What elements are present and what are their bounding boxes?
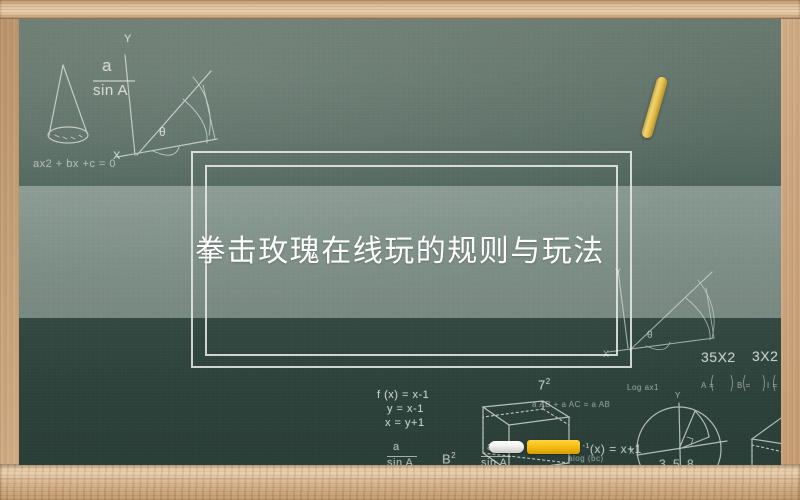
chalk-fraction-denominator-bc2: sin A: [481, 457, 507, 465]
chalk-label-angle-midright: θ: [647, 330, 653, 341]
chalk-label-3x2: 3X2: [752, 348, 778, 364]
bottom-right-cube-drawing: [744, 397, 781, 465]
yellow-eraser-icon: [527, 440, 580, 454]
chalk-equation-quadratic: ax2 + bx +c = 0: [33, 158, 116, 170]
chalk-label-35x2: 35X2: [701, 349, 736, 365]
white-chalk-icon: [489, 441, 524, 453]
chalk-fraction-denominator-sina: sin A: [93, 82, 128, 99]
chalk-equation-fx: f (x) = x-1: [377, 389, 429, 401]
title-overlay-band: 拳击玫瑰在线玩的规则与玩法: [19, 186, 781, 318]
chalk-matrix-brackets: [691, 371, 781, 395]
chalk-label-angle-topleft: θ: [159, 125, 166, 139]
chalk-equation-x: x = y+1: [385, 417, 425, 429]
chalk-sum-row-1: 3 5 8: [659, 457, 696, 465]
chalk-fraction-numerator-a: a: [102, 56, 112, 76]
blackboard-banner-image: Y X θ a sin A ax2 + bx +c = 0 Y X θ f (x…: [0, 0, 800, 500]
bottom-right-pie-chart: [627, 397, 747, 465]
chalk-label-b-squared: B2: [442, 451, 456, 465]
frame-top-rail: [0, 0, 800, 19]
chalk-fraction-denominator-bc1: sin A: [387, 457, 413, 465]
chalk-equation-ab-ac: a AB + a AC = a AB: [532, 400, 610, 409]
chalkboard-surface: Y X θ a sin A ax2 + bx +c = 0 Y X θ f (x…: [19, 19, 781, 465]
chalk-equation-y: y = x-1: [387, 403, 424, 415]
chalk-label-power7: 72: [538, 377, 551, 392]
chalk-fraction-numerator-a-bc1: a: [393, 441, 400, 453]
chalk-label-log-ax: Log ax1: [627, 383, 659, 392]
chalk-label-alog: alog (bc): [568, 454, 604, 463]
page-title: 拳击玫瑰在线玩的规则与玩法: [195, 237, 605, 267]
frame-bottom-ledge: [0, 464, 800, 500]
chalk-label-axis-y-topleft: Y: [124, 33, 132, 45]
chalk-label-axis-y-pie: Y: [675, 391, 681, 400]
